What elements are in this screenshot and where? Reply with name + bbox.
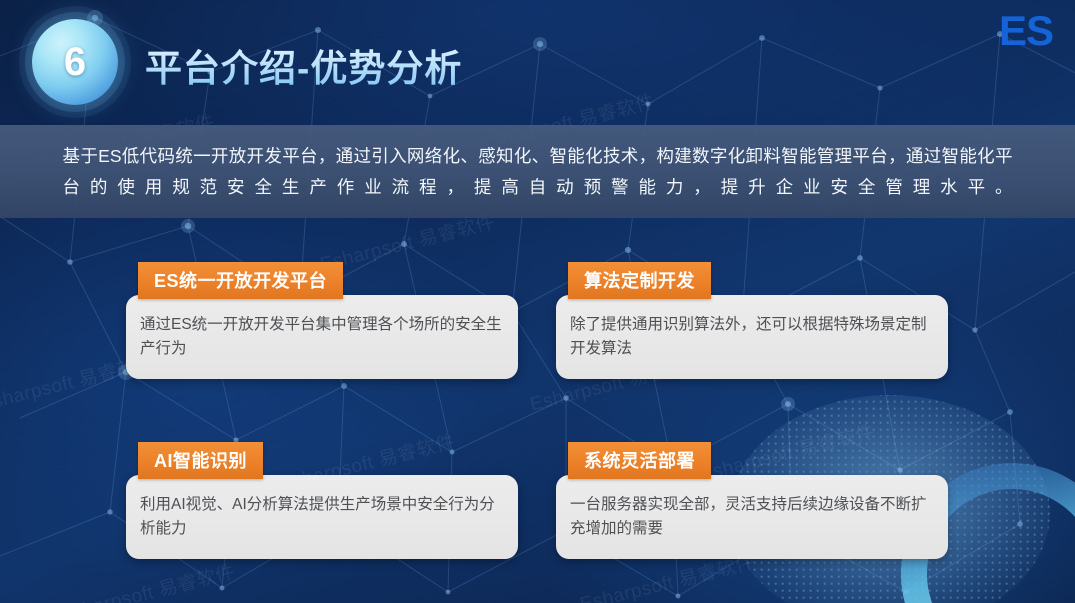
feature-card[interactable]: 系统灵活部署 一台服务器实现全部，灵活支持后续边缘设备不断扩充增加的需要 (556, 442, 948, 559)
section-number-text: 6 (64, 42, 86, 82)
feature-card-title: ES统一开放开发平台 (138, 262, 343, 299)
feature-card-text: 除了提供通用识别算法外，还可以根据特殊场景定制开发算法 (570, 313, 932, 361)
es-logo: ES (999, 10, 1053, 52)
feature-card-body: 除了提供通用识别算法外，还可以根据特殊场景定制开发算法 (556, 295, 948, 379)
feature-card-title: 算法定制开发 (568, 262, 711, 299)
feature-card-body: 利用AI视觉、AI分析算法提供生产场景中安全行为分析能力 (126, 475, 518, 559)
section-number-badge: 6 (32, 19, 118, 105)
intro-banner: 基于ES低代码统一开放开发平台，通过引入网络化、感知化、智能化技术，构建数字化卸… (0, 125, 1075, 218)
slide-root: Esharpsoft 易睿软件 Esharpsoft 易睿软件 Esharpso… (0, 0, 1075, 603)
feature-card-title: AI智能识别 (138, 442, 263, 479)
feature-card-body: 一台服务器实现全部，灵活支持后续边缘设备不断扩充增加的需要 (556, 475, 948, 559)
slide-header: 6 平台介绍-优势分析 ES (0, 0, 1075, 125)
feature-card-body: 通过ES统一开放开发平台集中管理各个场所的安全生产行为 (126, 295, 518, 379)
feature-card-text: 一台服务器实现全部，灵活支持后续边缘设备不断扩充增加的需要 (570, 493, 932, 541)
feature-card-text: 利用AI视觉、AI分析算法提供生产场景中安全行为分析能力 (140, 493, 502, 541)
feature-card[interactable]: ES统一开放开发平台 通过ES统一开放开发平台集中管理各个场所的安全生产行为 (126, 262, 518, 379)
feature-card[interactable]: 算法定制开发 除了提供通用识别算法外，还可以根据特殊场景定制开发算法 (556, 262, 948, 379)
page-title: 平台介绍-优势分析 (145, 38, 462, 92)
watermark: Esharpsoft 易睿软件 (57, 557, 238, 603)
feature-card-title: 系统灵活部署 (568, 442, 711, 479)
feature-card-text: 通过ES统一开放开发平台集中管理各个场所的安全生产行为 (140, 313, 502, 361)
intro-banner-text: 基于ES低代码统一开放开发平台，通过引入网络化、感知化、智能化技术，构建数字化卸… (63, 141, 1013, 201)
feature-card[interactable]: AI智能识别 利用AI视觉、AI分析算法提供生产场景中安全行为分析能力 (126, 442, 518, 559)
